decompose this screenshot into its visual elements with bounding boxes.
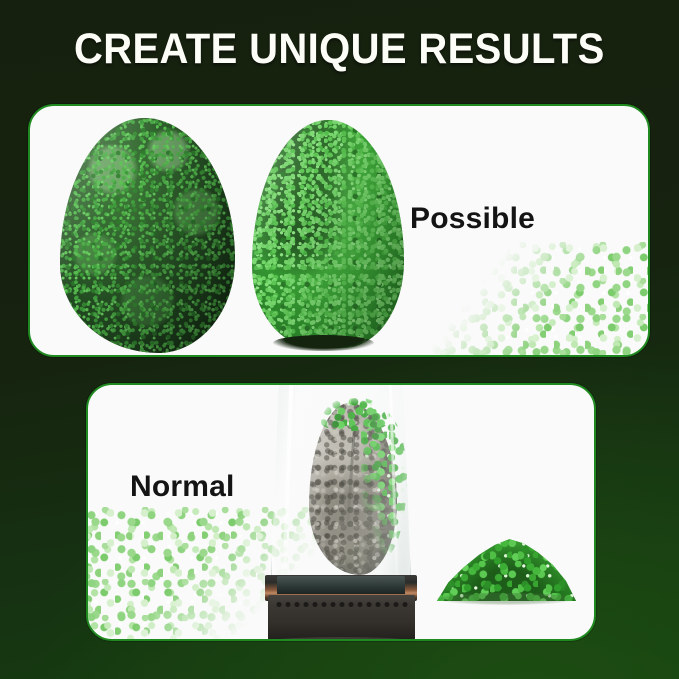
crystal-icon — [252, 120, 404, 348]
display-case-icon — [265, 383, 417, 619]
crystal-heap-shadow — [437, 593, 576, 605]
crystal-sheen — [252, 120, 404, 348]
case-vent-holes — [275, 601, 408, 608]
crystal-granule-texture — [434, 529, 579, 601]
normal-label: Normal — [130, 471, 235, 503]
green-crystal-granule-heap — [434, 529, 579, 601]
acrylic-highlight-right — [388, 383, 398, 578]
normal-card: Normal — [86, 383, 596, 641]
light-green-crystal-granules — [430, 242, 650, 357]
possible-card: Possible — [28, 104, 650, 357]
bright-green-crystal-geode — [252, 120, 404, 348]
possible-label: Possible — [410, 203, 535, 235]
crystal-sheen — [60, 118, 235, 353]
dark-green-crystal-geode — [60, 118, 235, 353]
crystal-granule-texture — [430, 242, 650, 357]
acrylic-highlight-left — [282, 383, 293, 578]
page-title-container: CREATE UNIQUE RESULTS — [0, 26, 679, 72]
crystal-icon — [60, 118, 235, 353]
page-title: CREATE UNIQUE RESULTS — [74, 26, 605, 72]
crystal-base-shadow — [273, 335, 373, 351]
case-plate-inner — [277, 576, 405, 594]
acrylic-cover — [271, 383, 411, 581]
